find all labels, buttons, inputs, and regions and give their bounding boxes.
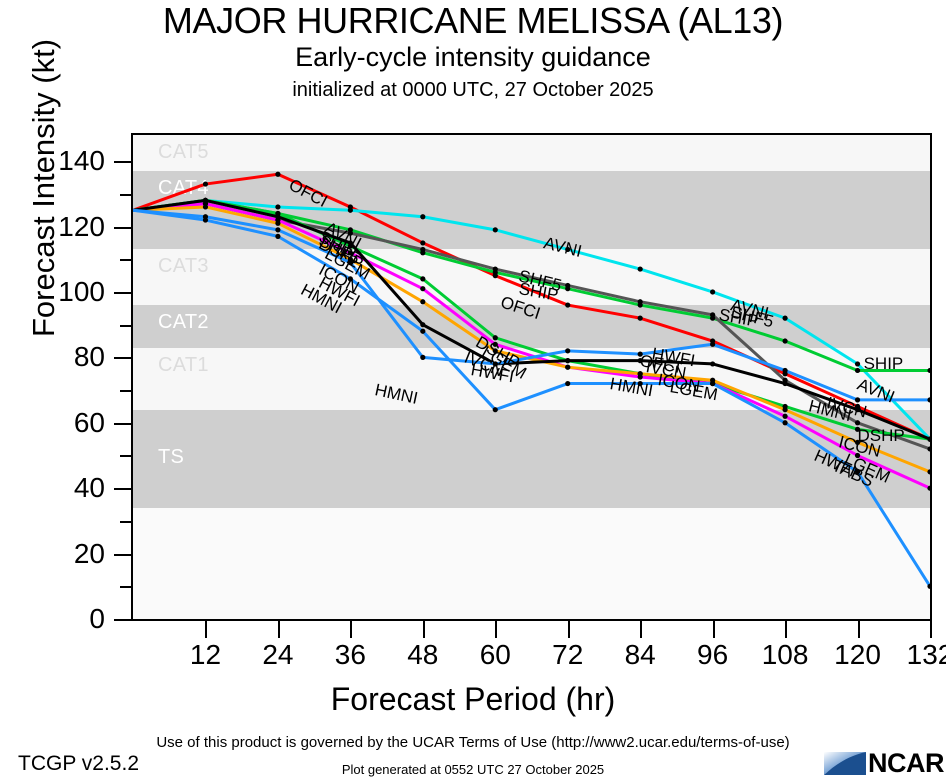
y-tick-80: [114, 357, 131, 359]
x-tick-108: [785, 621, 787, 638]
tcgp-version: TCGP v2.5.2: [18, 752, 139, 776]
data-point-ship-132: [927, 368, 930, 373]
forecast-lines-svg: [133, 135, 930, 619]
chart-canvas: CAT5CAT4CAT3CAT2CAT1TS OFCIAVNISHIPSHF5D…: [133, 135, 930, 619]
data-point-ivcn-48: [420, 322, 425, 327]
y-tick-label-40: 40: [0, 474, 105, 502]
x-tick-96: [713, 621, 715, 638]
x-tick-24: [278, 621, 280, 638]
x-tick-84: [640, 621, 642, 638]
y-tick-130: [120, 194, 131, 196]
data-point-ofci-72: [565, 302, 570, 307]
x-tick-12: [205, 621, 207, 638]
data-point-lgem-108: [782, 414, 787, 419]
y-tick-60: [114, 423, 131, 425]
data-point-avni-120: [855, 361, 860, 366]
x-tick-label-132: 132: [870, 641, 946, 669]
initialization-time: initialized at 0000 UTC, 27 October 2025: [0, 79, 946, 102]
y-tick-120: [114, 227, 131, 229]
data-point-ofci-12: [203, 181, 208, 186]
data-point-shf5-84: [638, 299, 643, 304]
data-point-avni-96: [710, 289, 715, 294]
data-point-hmni-60: [493, 407, 498, 412]
data-point-hmni-48: [420, 329, 425, 334]
y-tick-40: [114, 488, 131, 490]
data-point-avni-108: [782, 316, 787, 321]
data-point-hwfi-48: [420, 355, 425, 360]
data-point-hwfi-132: [927, 397, 930, 402]
data-point-icon-24: [275, 221, 280, 226]
x-tick-132: [930, 621, 932, 638]
y-tick-0: [114, 619, 131, 621]
data-point-icon-108: [782, 407, 787, 412]
data-point-avni-84: [638, 266, 643, 271]
forecast-line-icon: [133, 207, 930, 472]
y-tick-20: [114, 554, 131, 556]
data-point-icon-12: [203, 204, 208, 209]
data-point-hwfi-108: [782, 368, 787, 373]
y-tick-label-60: 60: [0, 409, 105, 437]
data-point-hmni-72: [565, 381, 570, 386]
data-point-dshp-48: [420, 276, 425, 281]
data-point-hwfi-72: [565, 348, 570, 353]
plot-generated-text: Plot generated at 0552 UTC 27 October 20…: [0, 762, 946, 777]
data-point-avni-36: [348, 208, 353, 213]
data-point-shf5-96: [710, 312, 715, 317]
data-point-ivcn-108: [782, 381, 787, 386]
y-tick-10: [120, 586, 131, 588]
data-point-hmni-24: [275, 234, 280, 239]
x-axis-title: Forecast Period (hr): [0, 681, 946, 718]
page-subtitle: Early-cycle intensity guidance: [0, 42, 946, 72]
data-point-shf5-48: [420, 247, 425, 252]
chart-plot-area: CAT5CAT4CAT3CAT2CAT1TS OFCIAVNISHIPSHF5D…: [131, 133, 932, 621]
y-axis-title: Forecast Intensity (kt): [26, 28, 62, 348]
data-point-avni-24: [275, 204, 280, 209]
y-tick-100: [114, 292, 131, 294]
data-point-icon-84: [638, 371, 643, 376]
data-point-ofci-84: [638, 316, 643, 321]
data-point-hwfi-24: [275, 227, 280, 232]
y-tick-30: [120, 521, 131, 523]
x-tick-120: [858, 621, 860, 638]
data-point-avni-48: [420, 214, 425, 219]
y-tick-label-0: 0: [0, 605, 105, 633]
y-tick-label-20: 20: [0, 540, 105, 568]
data-point-avni-60: [493, 227, 498, 232]
y-tick-140: [114, 161, 131, 163]
data-point-icon-48: [420, 299, 425, 304]
data-point-shf5-72: [565, 283, 570, 288]
y-axis: 020406080100120140: [0, 133, 131, 621]
data-point-ivcn-96: [710, 361, 715, 366]
data-point-hwfi-96: [710, 342, 715, 347]
model-label-ship: SHIP: [864, 354, 904, 374]
data-point-icon-72: [565, 365, 570, 370]
page-title: MAJOR HURRICANE MELISSA (AL13): [0, 2, 946, 40]
data-point-ofci-24: [275, 172, 280, 177]
forecast-line-lgem: [133, 204, 930, 489]
x-tick-60: [495, 621, 497, 638]
y-tick-110: [120, 259, 131, 261]
data-point-hmni-12: [203, 217, 208, 222]
data-point-ivcn-24: [275, 214, 280, 219]
x-tick-72: [568, 621, 570, 638]
x-tick-36: [350, 621, 352, 638]
data-point-ivcn-72: [565, 358, 570, 363]
data-point-ofci-48: [420, 240, 425, 245]
ncar-wordmark: NCAR: [868, 748, 944, 779]
data-point-hmni-108: [782, 420, 787, 425]
y-tick-90: [120, 325, 131, 327]
terms-of-use-text: Use of this product is governed by the U…: [0, 734, 946, 751]
data-point-ship-120: [855, 368, 860, 373]
data-point-ivcn-12: [203, 198, 208, 203]
data-point-ship-108: [782, 338, 787, 343]
data-point-shf5-60: [493, 266, 498, 271]
data-point-lgem-48: [420, 286, 425, 291]
x-tick-48: [423, 621, 425, 638]
y-tick-70: [120, 390, 131, 392]
y-tick-50: [120, 455, 131, 457]
